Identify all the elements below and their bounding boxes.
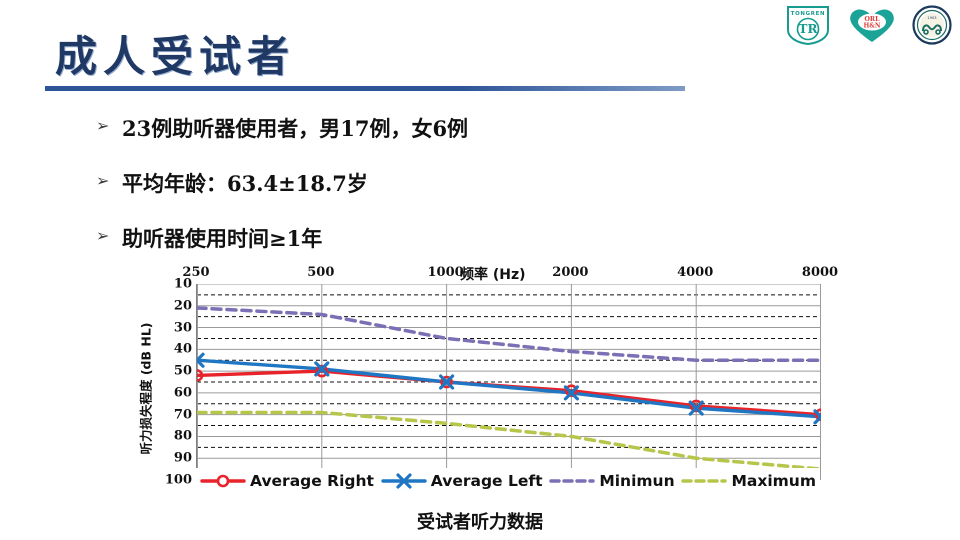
chart-y-tick: 30 [174, 320, 192, 335]
chart-y-axis-title: 听力损失程度 (dB HL) [136, 288, 154, 488]
chart-canvas [197, 284, 821, 480]
legend-item-average-left[interactable]: Average Left [381, 472, 543, 490]
chart-x-tick: 1000 [428, 265, 464, 280]
svg-text:1903: 1903 [927, 16, 936, 20]
legend-swatch [200, 473, 246, 489]
chart-y-tick: 70 [174, 407, 192, 422]
legend-swatch [549, 473, 595, 489]
legend-item-minimun[interactable]: Minimun [549, 472, 674, 490]
legend-label: Maximum [731, 472, 816, 490]
title-underline [45, 86, 685, 91]
legend-label: Average Right [250, 472, 374, 490]
legend-label: Average Left [431, 472, 543, 490]
chart-y-tick: 100 [165, 473, 192, 488]
arrow-bullet-icon: ➢ [96, 226, 122, 245]
list-item-label: 23例助听器使用者，男17例，女6例 [122, 116, 468, 141]
legend-swatch [681, 473, 727, 489]
logo-bar: TONGREN TR ORL H&N 1903 [784, 4, 952, 46]
chart-x-tick: 2000 [552, 265, 588, 280]
legend-item-average-right[interactable]: Average Right [200, 472, 374, 490]
chart-x-tick: 4000 [677, 265, 713, 280]
legend-label: Minimun [599, 472, 674, 490]
chart-y-tick: 60 [174, 385, 192, 400]
tongren-logo: TONGREN TR [784, 4, 832, 46]
svg-text:TR: TR [799, 22, 819, 36]
svg-text:TONGREN: TONGREN [791, 11, 825, 17]
chart-y-tick: 80 [174, 429, 192, 444]
page-title: 成人受试者 [55, 36, 295, 78]
orl-hn-logo: ORL H&N [846, 6, 898, 44]
chart-plot-area [196, 284, 820, 480]
legend-item-maximum[interactable]: Maximum [681, 472, 816, 490]
list-item-label: 助听器使用时间≥1年 [122, 226, 322, 251]
arrow-bullet-icon: ➢ [96, 171, 122, 190]
chart-y-tick-labels: 102030405060708090100 [160, 284, 196, 480]
list-item: ➢ 23例助听器使用者，男17例，女6例 [96, 116, 736, 141]
chart-y-axis-title-text: 听力损失程度 (dB HL) [136, 322, 155, 454]
chart-y-tick: 20 [174, 298, 192, 313]
chart-y-tick: 90 [174, 451, 192, 466]
list-item-label: 平均年龄：63.4±18.7岁 [122, 171, 368, 196]
arrow-bullet-icon: ➢ [96, 116, 122, 135]
audiogram-chart: 听力损失程度 (dB HL) 频率 (Hz) 25050010002000400… [140, 262, 830, 502]
chart-caption: 受试者听力数据 [0, 508, 960, 534]
chart-y-tick: 40 [174, 342, 192, 357]
chart-y-tick: 50 [174, 364, 192, 379]
chart-x-tick-labels: 2505001000200040008000 [196, 265, 820, 283]
seal-logo: 1903 [912, 5, 952, 45]
chart-x-tick: 8000 [802, 265, 838, 280]
svg-text:H&N: H&N [863, 23, 880, 30]
list-item: ➢ 平均年龄：63.4±18.7岁 [96, 171, 736, 196]
list-item: ➢ 助听器使用时间≥1年 [96, 226, 736, 251]
slide-root: TONGREN TR ORL H&N 1903 成人受试者 ➢ 23例助听器使用… [0, 0, 960, 540]
chart-x-tick: 500 [307, 265, 334, 280]
bullet-list: ➢ 23例助听器使用者，男17例，女6例 ➢ 平均年龄：63.4±18.7岁 ➢… [96, 116, 736, 282]
legend-swatch [381, 473, 427, 489]
chart-legend: Average RightAverage LeftMinimunMaximum [196, 468, 820, 494]
chart-y-tick: 10 [174, 277, 192, 292]
